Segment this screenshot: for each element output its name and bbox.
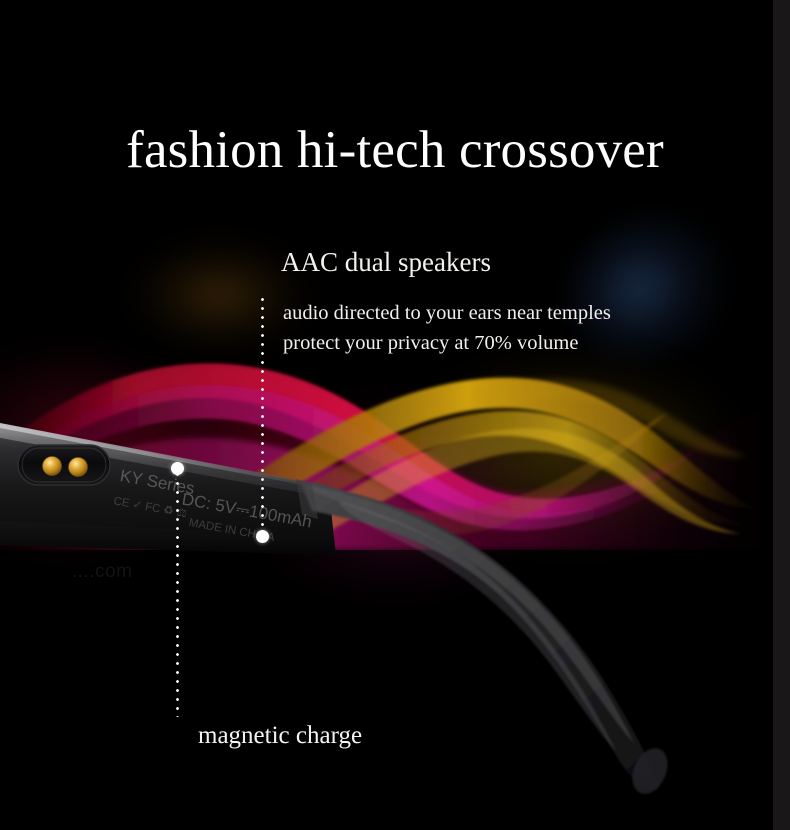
printed-model: KY Series [119, 466, 196, 498]
crimson-glow [0, 355, 190, 555]
page-title: fashion hi-tech crossover [0, 122, 790, 178]
feature-magnetic-charge-label: magnetic charge [198, 722, 362, 750]
magnetic-charge-port [18, 445, 110, 485]
blue-glow [541, 185, 762, 397]
leader-line-magnetic-charge [176, 470, 179, 717]
magenta-glow [250, 400, 540, 590]
glasses-temple-arm [0, 395, 790, 795]
ribbon-artwork [0, 330, 790, 550]
feature-speakers-title: AAC dual speakers [281, 247, 491, 277]
gold-glow [430, 360, 730, 540]
marker-dot-magnetic-charge [171, 462, 184, 475]
marker-dot-speakers [256, 530, 269, 543]
feature-speakers-description-line-1: audio directed to your ears near temples [283, 301, 611, 325]
leader-line-speakers [261, 295, 264, 540]
printed-rating: DC: 5V⎓100mAh [180, 489, 313, 531]
feature-speakers-description-line-2: protect your privacy at 70% volume [283, 331, 578, 355]
product-banner: KY Series DC: 5V⎓100mAh CE ✓ FC ♻ ⚖ MADE… [0, 0, 790, 830]
site-watermark: ....com [72, 561, 133, 583]
printed-spec-text: KY Series DC: 5V⎓100mAh CE ✓ FC ♻ ⚖ MADE… [0, 395, 790, 795]
